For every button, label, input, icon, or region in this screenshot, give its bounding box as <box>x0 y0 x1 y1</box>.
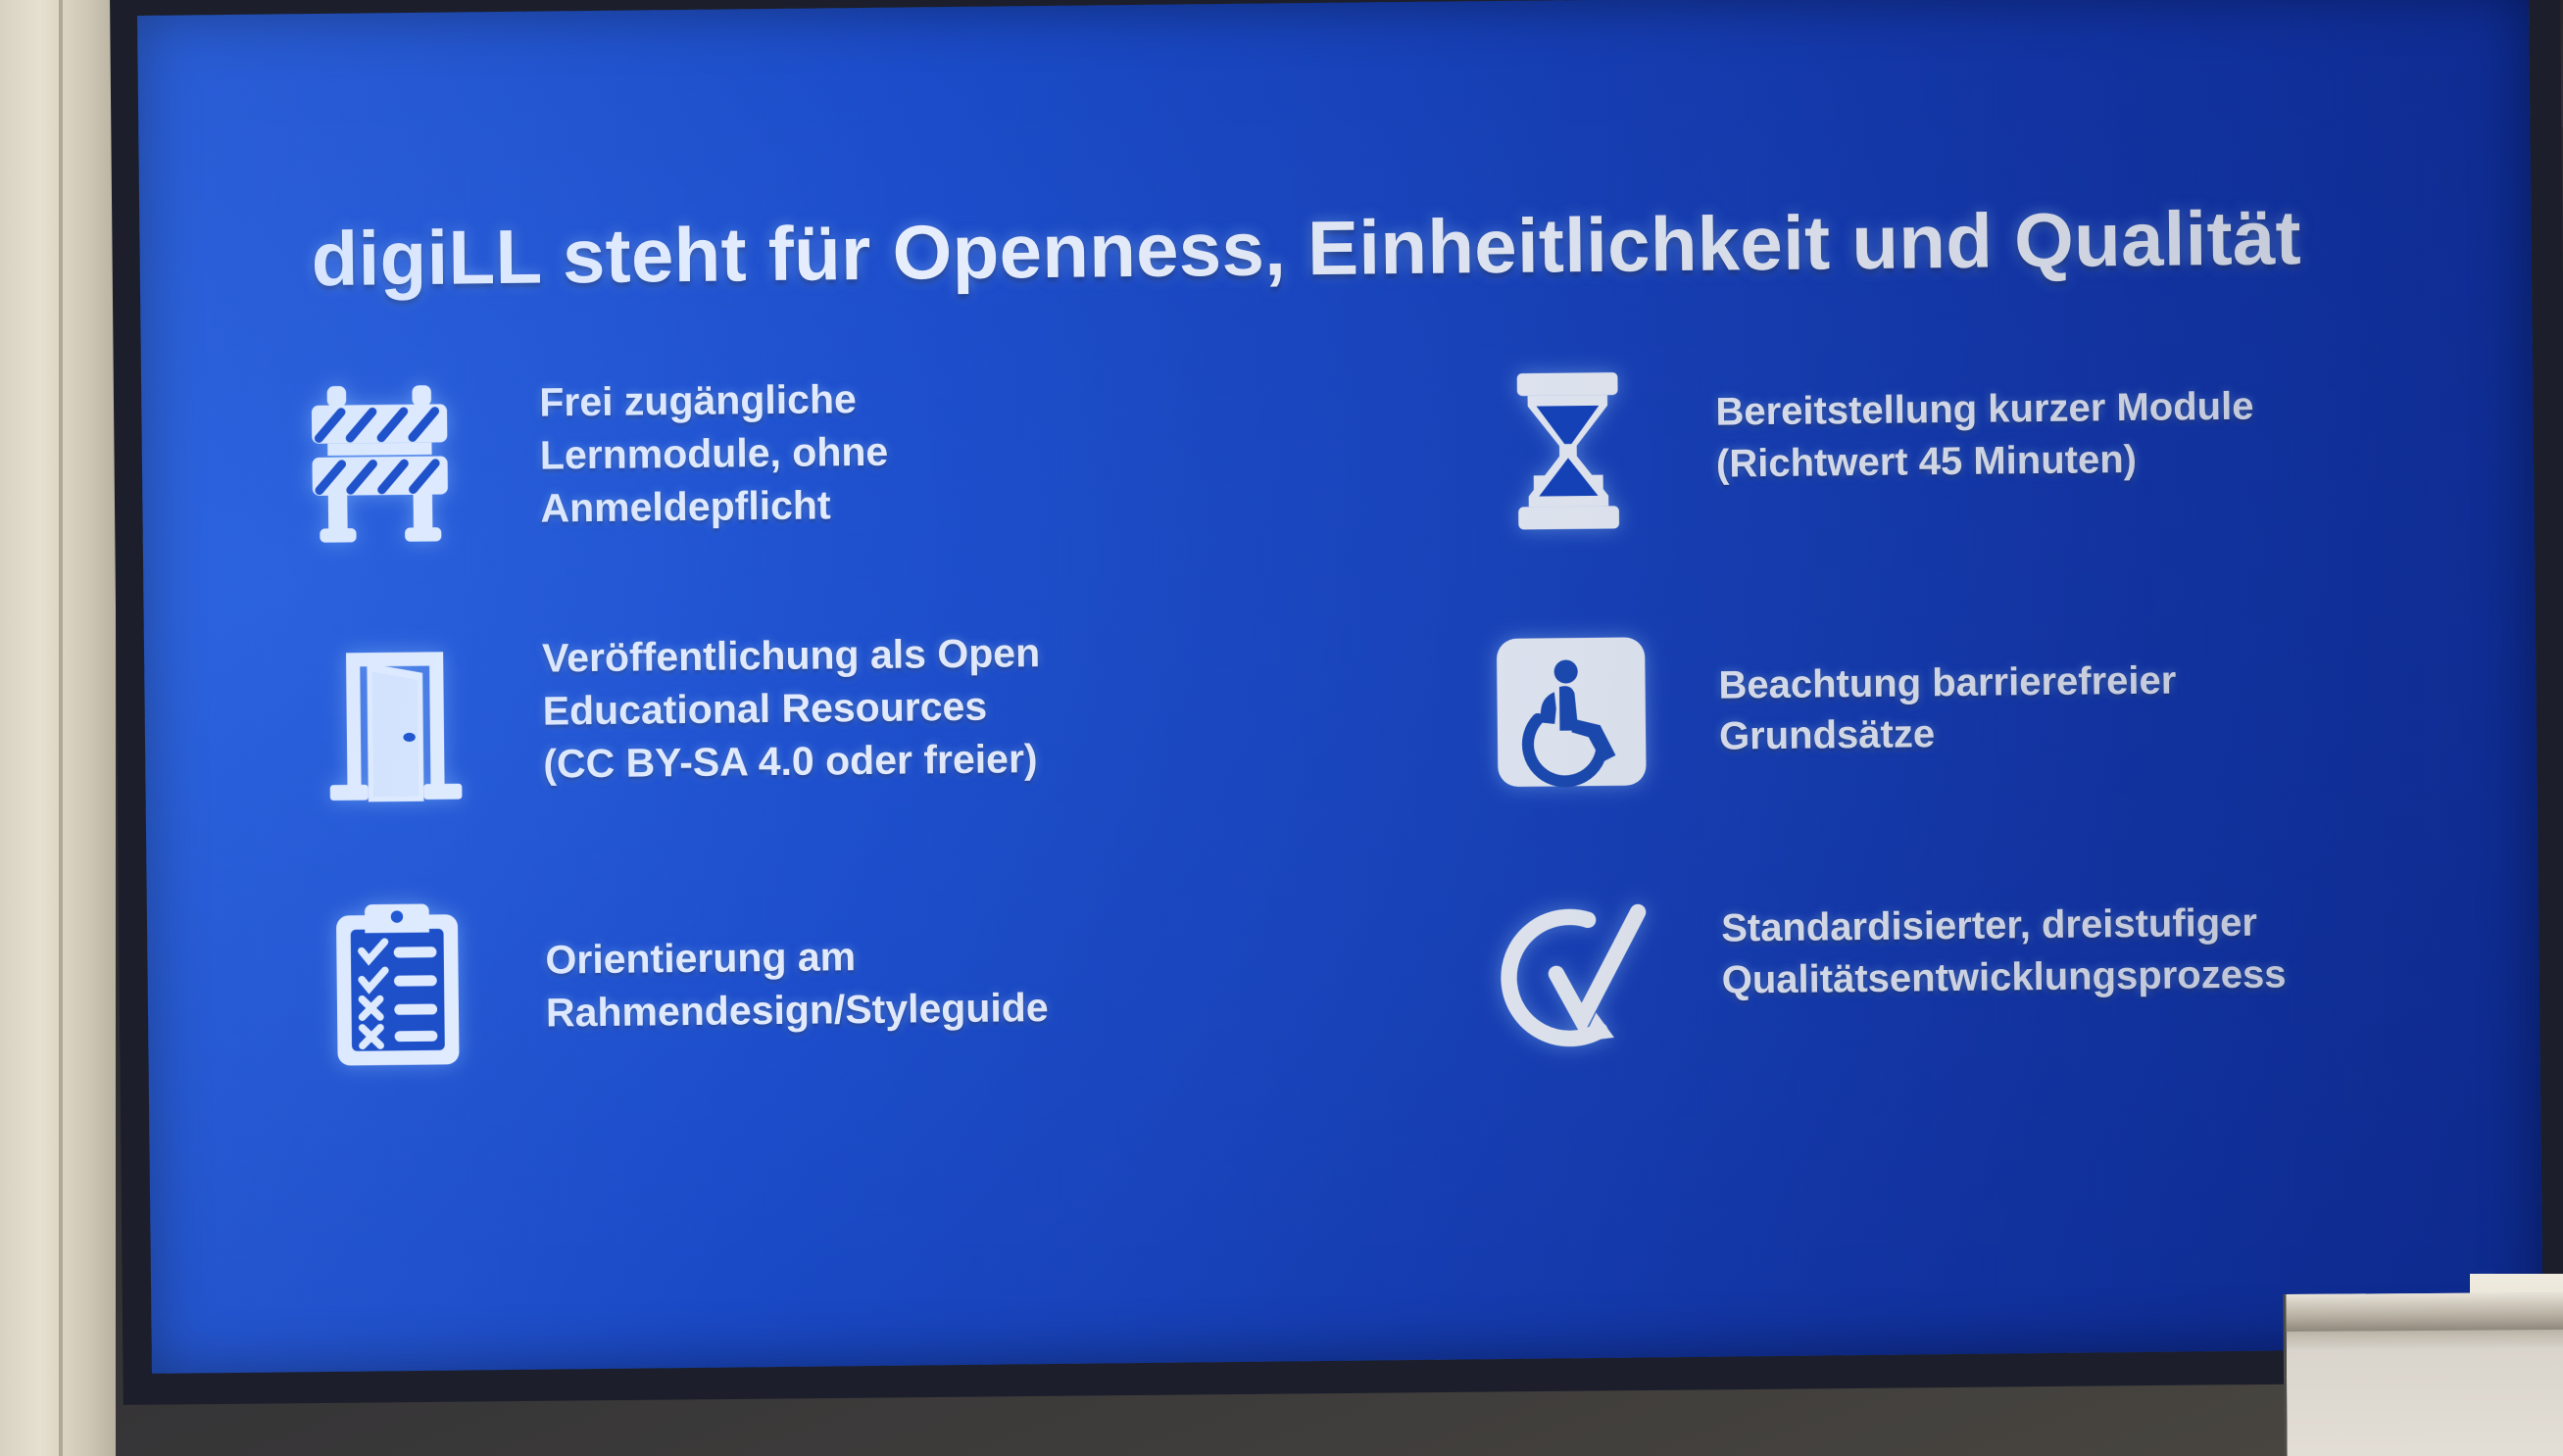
feature-line: Anmeldepflicht <box>540 478 889 535</box>
wheelchair-accessibility-icon <box>1467 613 1675 811</box>
whiteboard-foreground <box>2283 1292 2563 1456</box>
whiteboard-top-edge <box>2286 1292 2563 1332</box>
feature-line: Rahmendesign/Styleguide <box>546 981 1049 1040</box>
feature-line: Bereitstellung kurzer Module <box>1715 381 2254 439</box>
feature-line: Lernmodule, ohne <box>540 425 889 482</box>
feature-text: Veröffentlichung als Open Educational Re… <box>542 620 1042 791</box>
feature-item-short-modules: Bereitstellung kurzer Module (Richtwert … <box>1405 343 2477 615</box>
feature-item-quality-process: Standardisierter, dreistufiger Qualitäts… <box>1411 866 2483 1139</box>
feature-line: Qualitätsentwicklungsprozess <box>1721 948 2286 1006</box>
feature-grid: Frei zugängliche Lernmodule, ohne Anmeld… <box>288 343 2483 1150</box>
feature-text: Frei zugängliche Lernmodule, ohne Anmeld… <box>539 361 889 535</box>
feature-line: Frei zugängliche <box>539 372 888 429</box>
feature-line: Orientierung am <box>545 928 1048 987</box>
presentation-slide: digiLL steht für Openness, Einheitlichke… <box>137 0 2543 1374</box>
feature-item-styleguide: Orientierung am Rahmendesign/Styleguide <box>294 878 1365 1150</box>
feature-line: (Richtwert 45 Minuten) <box>1716 432 2255 490</box>
feature-text: Beachtung barrierefreier Grundsätze <box>1718 607 2177 763</box>
feature-line: Educational Resources <box>542 679 1041 738</box>
open-door-icon <box>291 626 499 824</box>
wall-strip-left <box>0 0 116 1456</box>
clipboard-checklist-icon <box>294 887 502 1085</box>
feature-item-free-access: Frei zugängliche Lernmodule, ohne Anmeld… <box>288 356 1359 628</box>
feature-item-accessibility: Beachtung barrierefreier Grundsätze <box>1408 605 2480 877</box>
circular-arrow-check-icon <box>1470 874 1678 1072</box>
feature-text: Standardisierter, dreistufiger Qualitäts… <box>1721 868 2287 1007</box>
feature-text: Orientierung am Rahmendesign/Styleguide <box>545 881 1049 1040</box>
road-barrier-icon <box>288 364 496 562</box>
hourglass-icon <box>1464 352 1672 550</box>
feature-line: (CC BY-SA 4.0 oder freier) <box>543 732 1042 791</box>
slide-title: digiLL steht für Openness, Einheitlichke… <box>311 193 2321 304</box>
feature-line: Veröffentlichung als Open <box>542 626 1041 685</box>
feature-line: Standardisierter, dreistufiger <box>1721 898 2286 955</box>
feature-item-oer: Veröffentlichung als Open Educational Re… <box>291 616 1362 889</box>
wall-seam <box>59 0 63 1456</box>
feature-text: Bereitstellung kurzer Module (Richtwert … <box>1715 346 2254 491</box>
feature-line: Beachtung barrierefreier <box>1718 655 2176 711</box>
photo-of-projection-screen: digiLL steht für Openness, Einheitlichke… <box>0 0 2563 1456</box>
feature-line: Grundsätze <box>1719 706 2177 763</box>
